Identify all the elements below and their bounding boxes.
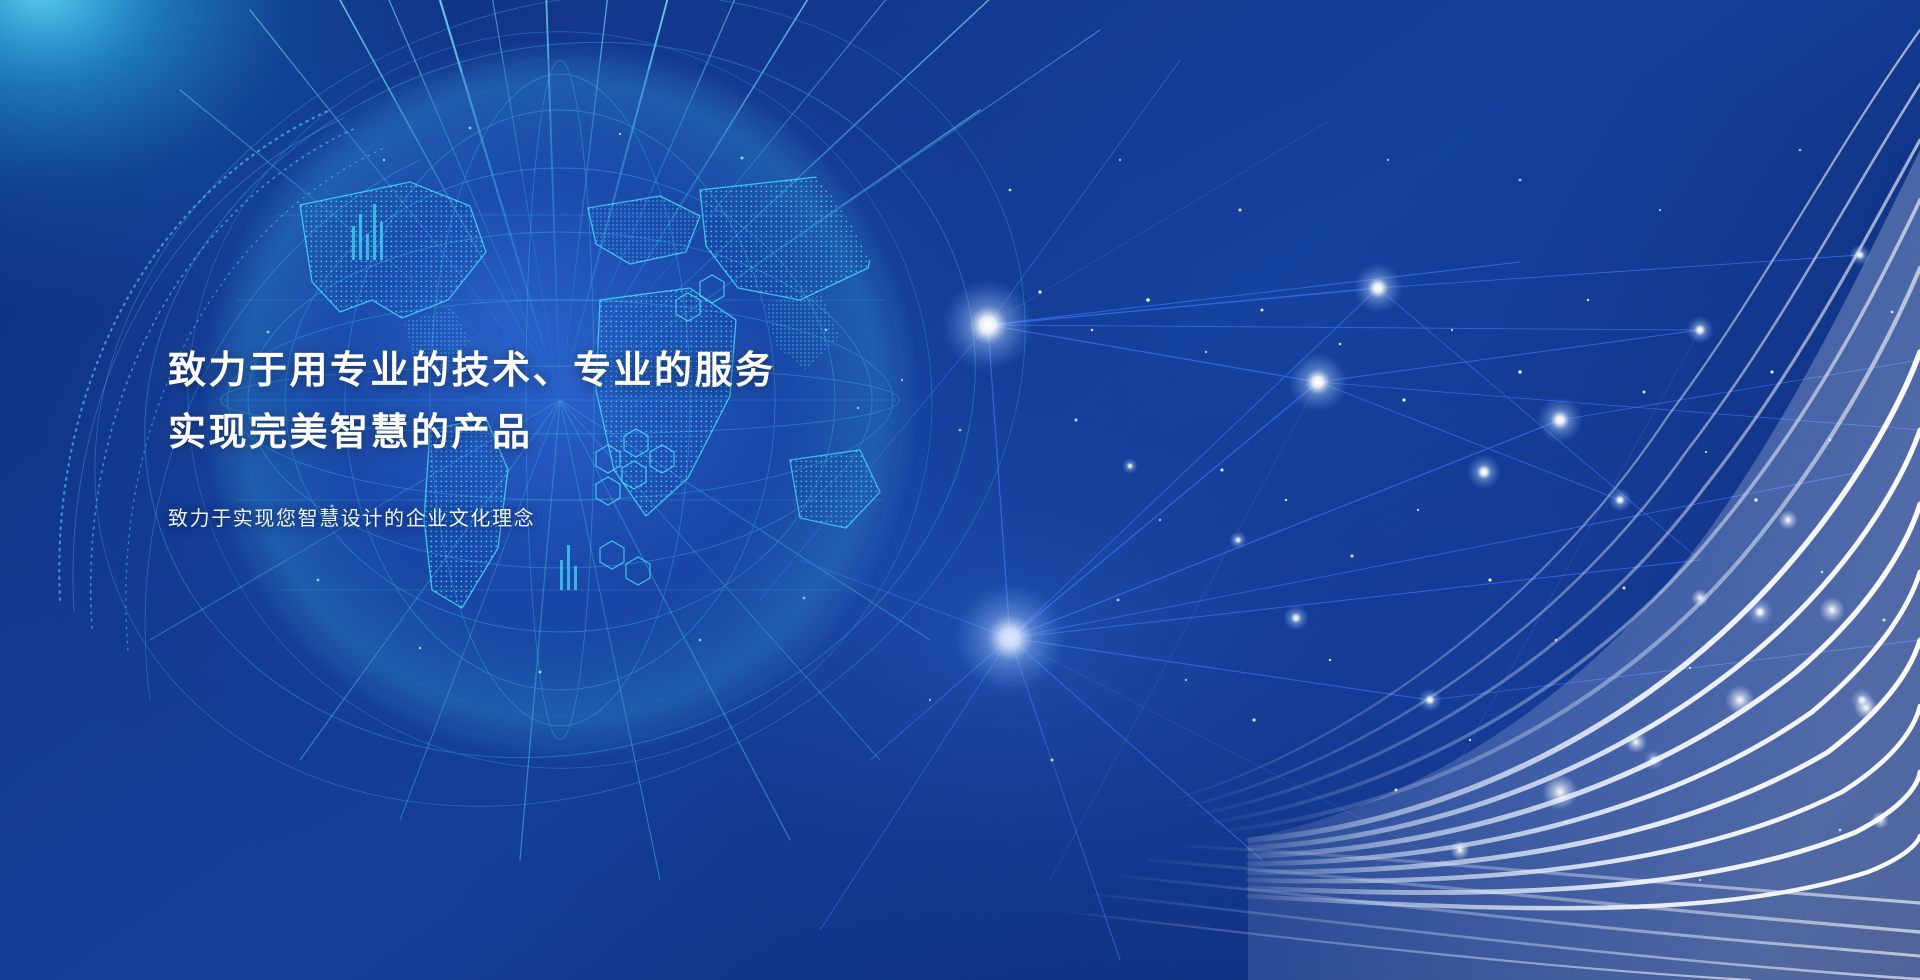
headline-line-1: 致力于用专业的技术、专业的服务 <box>168 340 1068 402</box>
headline-line-2: 实现完美智慧的产品 <box>168 402 1068 464</box>
hero-copy: 致力于用专业的技术、专业的服务 实现完美智慧的产品 致力于实现您智慧设计的企业文… <box>168 340 1068 534</box>
hero-subtitle: 致力于实现您智慧设计的企业文化理念 <box>168 504 1068 534</box>
hero-banner: 致力于用专业的技术、专业的服务 实现完美智慧的产品 致力于实现您智慧设计的企业文… <box>0 0 1920 980</box>
